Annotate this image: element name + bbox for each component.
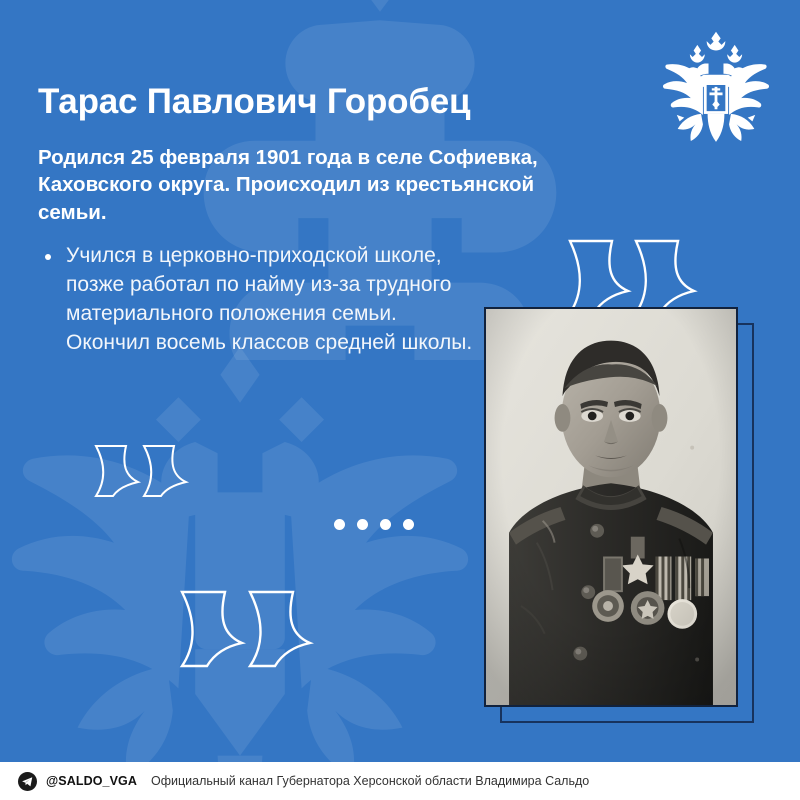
list-item: Учился в церковно-приходской школе, позж… <box>38 242 478 358</box>
chevron-pair-top-right-icon <box>566 237 700 315</box>
dot-2 <box>357 519 368 530</box>
poster-canvas: Тарас Павлович Горобец Родился 25 феврал… <box>0 0 800 800</box>
telegram-icon[interactable] <box>18 772 37 791</box>
background-eagle-watermark-middle <box>0 330 550 800</box>
dot-4 <box>403 519 414 530</box>
footer-handle[interactable]: @SALDO_VGA <box>46 774 137 788</box>
double-headed-eagle-emblem <box>660 26 772 144</box>
bullet-list: Учился в церковно-приходской школе, позж… <box>38 242 478 358</box>
dot-1 <box>334 519 345 530</box>
portrait-photo <box>484 307 738 707</box>
dot-3 <box>380 519 391 530</box>
footer-description: Официальный канал Губернатора Херсонской… <box>151 774 589 788</box>
decorative-dots <box>334 519 414 530</box>
subtitle-text: Родился 25 февраля 1901 года в селе Софи… <box>38 144 598 226</box>
list-item-label: Учился в церковно-приходской школе, позж… <box>66 244 472 354</box>
footer-bar: @SALDO_VGA Официальный канал Губернатора… <box>0 762 800 800</box>
chevron-pair-left-icon <box>93 443 191 499</box>
bullet-dot-icon <box>45 254 51 260</box>
page-title: Тарас Павлович Горобец <box>38 82 598 122</box>
chevron-pair-bottom-icon <box>178 588 316 668</box>
